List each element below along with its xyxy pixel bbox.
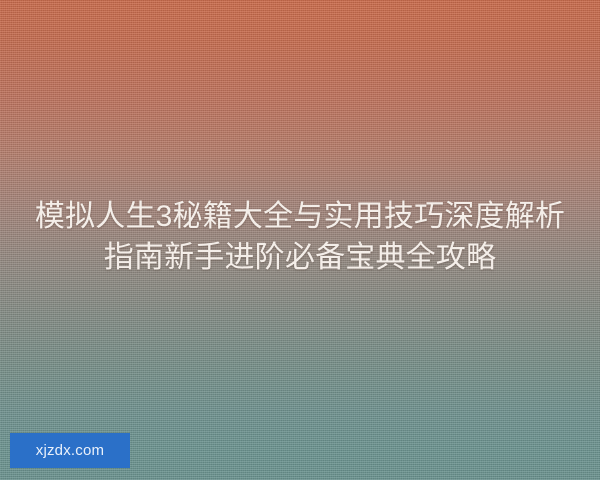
headline-title: 模拟人生3秘籍大全与实用技巧深度解析 指南新手进阶必备宝典全攻略 [0,196,600,278]
headline-line-2: 指南新手进阶必备宝典全攻略 [0,237,600,278]
headline-line-1: 模拟人生3秘籍大全与实用技巧深度解析 [0,196,600,237]
watermark-badge: xjzdx.com [10,433,130,468]
cover-image: 模拟人生3秘籍大全与实用技巧深度解析 指南新手进阶必备宝典全攻略 xjzdx.c… [0,0,600,480]
watermark-label: xjzdx.com [36,443,104,458]
